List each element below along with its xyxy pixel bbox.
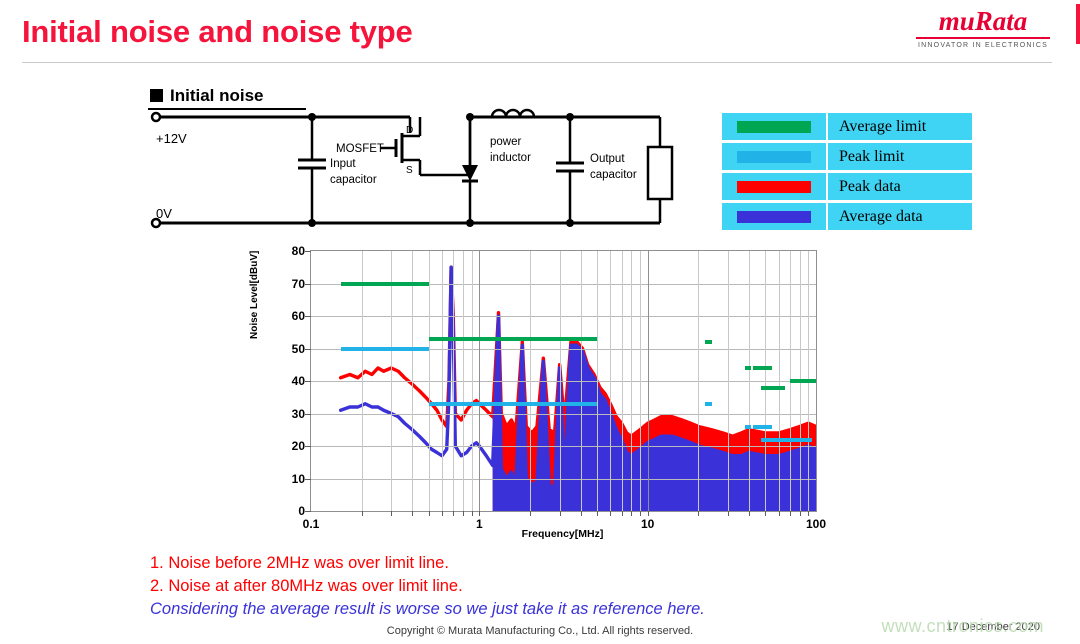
grid-line-vertical <box>530 251 531 511</box>
x-axis-tick-mark <box>808 511 809 516</box>
grid-line-vertical <box>765 251 766 511</box>
note-item-1: 1. Noise before 2MHz was over limit line… <box>150 552 890 575</box>
x-axis-tick-mark <box>597 511 598 516</box>
grid-line-vertical <box>560 251 561 511</box>
circuit-diagram: +12V 0V Input capacitor MOSFET D S power… <box>140 105 700 240</box>
legend-label-average-limit: Average limit <box>828 118 926 136</box>
rail-positive-label: +12V <box>156 131 187 146</box>
x-axis-tick-mark <box>530 511 531 516</box>
y-axis-tick-mark <box>305 479 311 480</box>
legend-swatch-cell <box>722 173 828 200</box>
x-axis-tick-mark <box>749 511 750 516</box>
grid-line-vertical <box>472 251 473 511</box>
x-axis-tick-mark <box>412 511 413 516</box>
grid-line-vertical <box>640 251 641 511</box>
legend-swatch-average-limit <box>737 121 811 133</box>
x-axis-tick-mark <box>610 511 611 516</box>
y-axis-tick-label: 60 <box>292 309 305 323</box>
grid-line-horizontal <box>311 414 816 415</box>
note-item-3: Considering the average result is worse … <box>150 598 890 621</box>
x-axis-tick-mark <box>800 511 801 516</box>
y-axis-tick-label: 80 <box>292 244 305 258</box>
grid-line-vertical <box>453 251 454 511</box>
y-axis-tick-mark <box>305 284 311 285</box>
legend-label-peak-limit: Peak limit <box>828 148 904 166</box>
input-capacitor-label-line2: capacitor <box>330 174 377 186</box>
limit-line-segment-average-limit <box>341 282 429 286</box>
limit-line-segment-average-limit <box>705 340 711 344</box>
limit-line-segment-peak-limit <box>341 347 429 351</box>
mosfet-label: MOSFET <box>336 143 384 155</box>
grid-line-vertical <box>728 251 729 511</box>
legend-item: Peak data <box>722 173 972 200</box>
x-axis-tick-mark <box>790 511 791 516</box>
copyright-text: Copyright © Murata Manufacturing Co., Lt… <box>387 625 693 637</box>
legend-label-peak-data: Peak data <box>828 178 901 196</box>
x-axis-tick-mark <box>698 511 699 516</box>
legend-item: Peak limit <box>722 143 972 170</box>
x-axis-tick-mark <box>362 511 363 516</box>
x-axis-tick-mark <box>581 511 582 516</box>
chart-x-axis-label: Frequency[MHz] <box>310 528 815 540</box>
x-axis-tick-mark <box>631 511 632 516</box>
grid-line-vertical <box>412 251 413 511</box>
mosfet-source-label: S <box>406 165 413 176</box>
legend-item: Average data <box>722 203 972 230</box>
y-axis-tick-mark <box>305 349 311 350</box>
power-inductor-label-line2: inductor <box>490 152 531 164</box>
y-axis-tick-mark <box>305 414 311 415</box>
grid-line-vertical <box>429 251 430 511</box>
grid-line-vertical <box>442 251 443 511</box>
y-axis-tick-label: 30 <box>292 407 305 421</box>
legend-swatch-cell <box>722 113 828 140</box>
grid-line-vertical <box>463 251 464 511</box>
grid-line-vertical <box>479 251 480 511</box>
watermark-text: www.cntronics.com <box>881 616 1044 637</box>
legend-swatch-cell <box>722 143 828 170</box>
legend-label-average-data: Average data <box>828 208 923 226</box>
output-capacitor-label-line1: Output <box>590 153 625 165</box>
grid-line-vertical <box>631 251 632 511</box>
x-axis-tick-mark <box>648 511 649 516</box>
corner-accent-bar <box>1076 4 1080 44</box>
limit-line-segment-peak-limit <box>429 402 597 406</box>
grid-line-vertical <box>610 251 611 511</box>
input-capacitor-label-line1: Input <box>330 158 356 170</box>
mosfet-drain-label: D <box>406 125 413 136</box>
limit-line-segment-peak-limit <box>705 402 711 406</box>
grid-line-vertical <box>779 251 780 511</box>
noise-spectrum-chart: Noise Level[dBuV] 010203040506070800.111… <box>255 243 855 543</box>
section-heading-label: Initial noise <box>170 86 264 105</box>
y-axis-tick-label: 20 <box>292 439 305 453</box>
x-axis-tick-mark <box>453 511 454 516</box>
y-axis-tick-label: 50 <box>292 342 305 356</box>
grid-line-horizontal <box>311 381 816 382</box>
x-axis-tick-mark <box>442 511 443 516</box>
legend-item: Average limit <box>722 113 972 140</box>
logo-tagline: INNOVATOR IN ELECTRONICS <box>916 42 1050 49</box>
grid-line-vertical <box>648 251 649 511</box>
limit-line-segment-average-limit <box>753 366 773 370</box>
y-axis-tick-label: 0 <box>298 504 305 518</box>
limit-line-segment-average-limit <box>429 337 597 341</box>
x-axis-tick-mark <box>391 511 392 516</box>
legend-swatch-peak-limit <box>737 151 811 163</box>
grid-line-vertical <box>749 251 750 511</box>
limit-line-segment-peak-limit <box>753 425 773 429</box>
x-axis-tick-mark <box>463 511 464 516</box>
limit-line-segment-peak-limit <box>761 438 812 442</box>
legend-swatch-peak-data <box>737 181 811 193</box>
y-axis-tick-mark <box>305 251 311 252</box>
grid-line-vertical <box>581 251 582 511</box>
x-axis-tick-mark <box>560 511 561 516</box>
grid-line-vertical <box>622 251 623 511</box>
limit-line-segment-average-limit <box>761 386 785 390</box>
y-axis-tick-mark <box>305 316 311 317</box>
grid-line-horizontal <box>311 316 816 317</box>
x-axis-tick-mark <box>472 511 473 516</box>
x-axis-tick-mark <box>728 511 729 516</box>
logo-underline <box>916 37 1050 39</box>
note-item-2: 2. Noise at after 80MHz was over limit l… <box>150 575 890 598</box>
y-axis-tick-mark <box>305 381 311 382</box>
x-axis-tick-mark <box>779 511 780 516</box>
title-divider <box>22 62 1052 63</box>
grid-line-vertical <box>698 251 699 511</box>
y-axis-tick-label: 40 <box>292 374 305 388</box>
grid-line-horizontal <box>311 479 816 480</box>
x-axis-tick-mark <box>429 511 430 516</box>
grid-line-vertical <box>362 251 363 511</box>
grid-line-horizontal <box>311 446 816 447</box>
x-axis-tick-mark <box>622 511 623 516</box>
legend-swatch-average-data <box>737 211 811 223</box>
limit-line-segment-average-limit <box>790 379 816 383</box>
page-title: Initial noise and noise type <box>22 14 413 50</box>
rail-ground-label: 0V <box>156 206 172 221</box>
power-inductor-label-line1: power <box>490 136 521 148</box>
y-axis-tick-label: 70 <box>292 277 305 291</box>
limit-line-segment-average-limit <box>745 366 751 370</box>
output-capacitor-label-line2: capacitor <box>590 169 637 181</box>
y-axis-tick-mark <box>305 511 311 512</box>
y-axis-tick-label: 10 <box>292 472 305 486</box>
chart-y-axis-label: Noise Level[dBuV] <box>249 251 260 339</box>
filled-square-icon <box>150 89 163 102</box>
legend-swatch-cell <box>722 203 828 230</box>
grid-line-vertical <box>597 251 598 511</box>
x-axis-tick-mark <box>479 511 480 516</box>
murata-logo: muRata INNOVATOR IN ELECTRONICS <box>916 8 1050 49</box>
grid-line-vertical <box>391 251 392 511</box>
logo-wordmark: muRata <box>916 8 1050 35</box>
chart-plot-area: 010203040506070800.1110100 <box>310 250 817 512</box>
chart-legend: Average limit Peak limit Peak data Avera… <box>722 113 972 233</box>
x-axis-tick-mark <box>765 511 766 516</box>
x-axis-tick-mark <box>640 511 641 516</box>
notes-list: 1. Noise before 2MHz was over limit line… <box>150 552 890 620</box>
y-axis-tick-mark <box>305 446 311 447</box>
limit-line-segment-peak-limit <box>745 425 751 429</box>
section-heading: Initial noise <box>150 86 264 106</box>
